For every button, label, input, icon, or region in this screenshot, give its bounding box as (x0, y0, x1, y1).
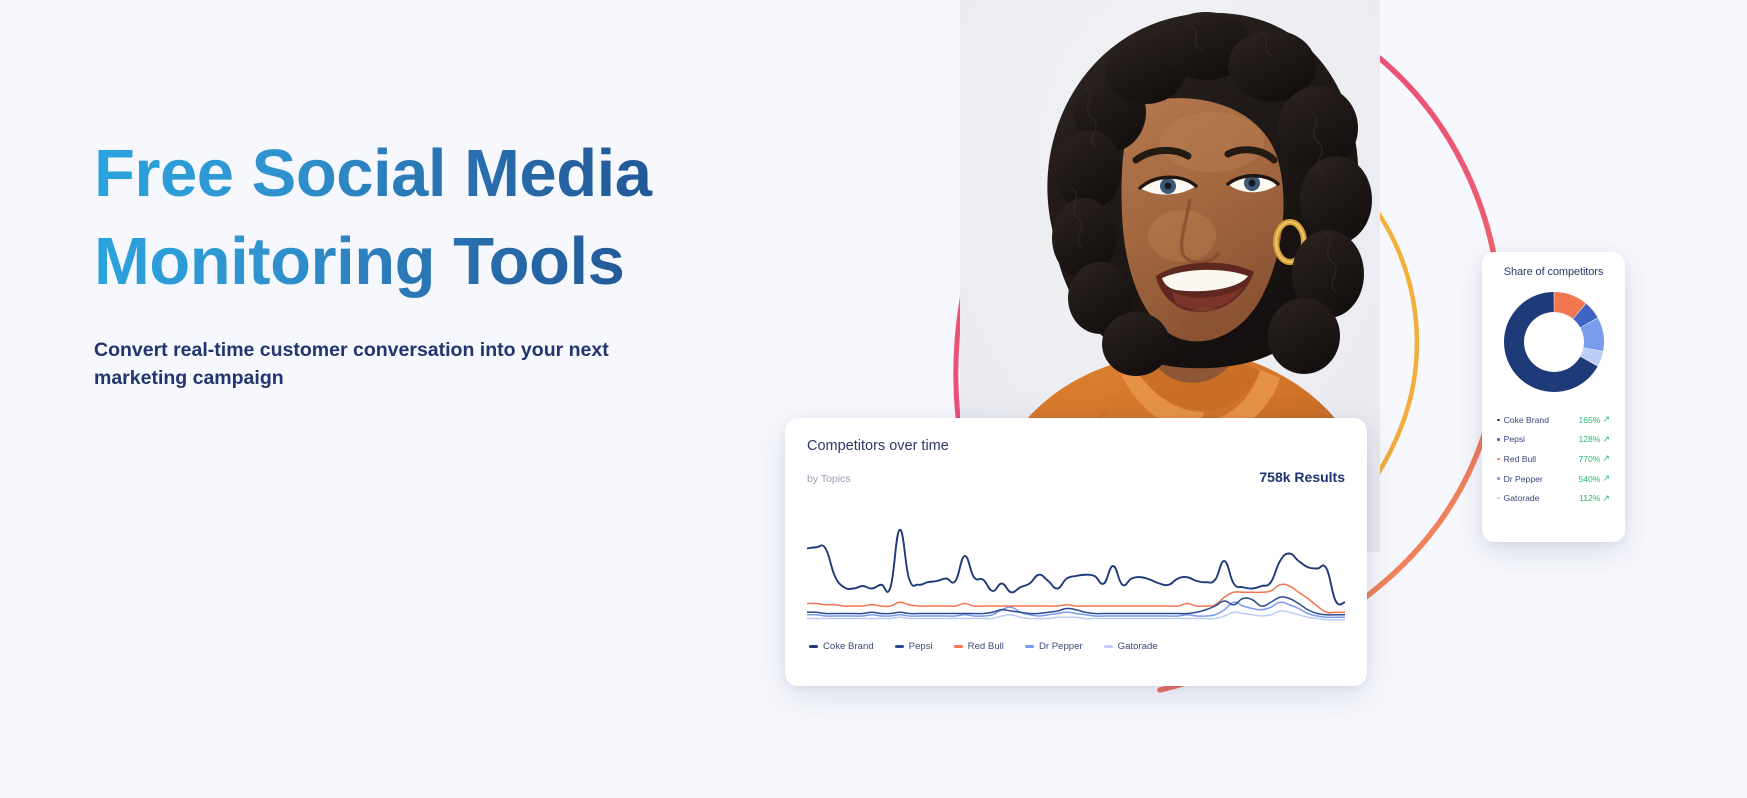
line-series-red-bull (807, 584, 1345, 613)
hero-section: Free Social Media Monitoring Tools Conve… (0, 0, 1747, 798)
chart-legend: Coke BrandPepsiRed BullDr PepperGatorade (807, 641, 1345, 652)
donut-row-label: Coke Brand (1504, 415, 1549, 425)
donut-row-left: Red Bull (1497, 454, 1536, 464)
legend-swatch-icon (954, 645, 963, 647)
donut-row-value: 128%↗ (1578, 434, 1610, 444)
trend-up-icon: ↗ (1602, 474, 1610, 483)
donut-row-percent: 112% (1579, 493, 1600, 503)
donut-chart (1500, 288, 1608, 396)
donut-row-label: Pepsi (1504, 434, 1526, 444)
line-chart-plot (807, 497, 1345, 630)
chart-by-label: by Topics (807, 473, 851, 485)
donut-row-left: Pepsi (1497, 434, 1525, 444)
legend-item-pepsi[interactable]: Pepsi (895, 641, 933, 652)
hero-copy: Free Social Media Monitoring Tools Conve… (94, 130, 734, 393)
line-series-gatorade (807, 611, 1345, 620)
line-series-coke-brand (807, 530, 1345, 605)
legend-swatch-icon (895, 645, 904, 647)
legend-swatch-icon (1025, 645, 1034, 647)
share-of-competitors-card: Share of competitors Coke Brand165%↗Peps… (1482, 252, 1625, 542)
trend-up-icon: ↗ (1602, 494, 1610, 503)
trend-up-icon: ↗ (1602, 435, 1610, 444)
donut-row-value: 165%↗ (1578, 415, 1610, 425)
donut-bullet-icon (1497, 438, 1500, 441)
donut-row-left: Coke Brand (1497, 415, 1549, 425)
donut-card-title: Share of competitors (1494, 266, 1613, 278)
donut-legend-list: Coke Brand165%↗Pepsi128%↗Red Bull770%↗Dr… (1494, 410, 1613, 508)
trend-up-icon: ↗ (1602, 415, 1610, 424)
donut-row-percent: 128% (1578, 434, 1600, 444)
donut-row-value: 540%↗ (1578, 474, 1610, 484)
legend-item-red-bull[interactable]: Red Bull (954, 641, 1004, 652)
competitors-over-time-card: Competitors over time by Topics 758k Res… (785, 418, 1367, 686)
donut-row-left: Gatorade (1497, 493, 1539, 503)
legend-item-gatorade[interactable]: Gatorade (1104, 641, 1158, 652)
hero-subtitle: Convert real-time customer conversation … (94, 336, 694, 394)
donut-row-label: Red Bull (1504, 454, 1536, 464)
donut-row-value: 770%↗ (1578, 454, 1610, 464)
donut-row[interactable]: Gatorade112%↗ (1497, 488, 1610, 508)
legend-swatch-icon (809, 645, 818, 647)
legend-label: Pepsi (909, 641, 933, 652)
donut-bullet-icon (1497, 497, 1500, 500)
legend-label: Red Bull (968, 641, 1004, 652)
chart-card-title: Competitors over time (807, 438, 1345, 454)
legend-label: Dr Pepper (1039, 641, 1083, 652)
legend-label: Gatorade (1118, 641, 1158, 652)
donut-row-label: Dr Pepper (1504, 474, 1543, 484)
donut-row-percent: 165% (1578, 415, 1600, 425)
legend-item-dr-pepper[interactable]: Dr Pepper (1025, 641, 1083, 652)
chart-results-count: 758k Results (1259, 469, 1345, 485)
donut-row-value: 112%↗ (1579, 493, 1610, 503)
donut-row[interactable]: Pepsi128%↗ (1497, 430, 1610, 450)
page-title: Free Social Media Monitoring Tools (94, 130, 734, 306)
trend-up-icon: ↗ (1602, 454, 1610, 463)
donut-row-left: Dr Pepper (1497, 474, 1543, 484)
donut-row[interactable]: Red Bull770%↗ (1497, 449, 1610, 469)
legend-item-coke-brand[interactable]: Coke Brand (809, 641, 874, 652)
donut-row-percent: 770% (1578, 454, 1600, 464)
chart-card-subrow: by Topics 758k Results (807, 469, 1345, 485)
donut-bullet-icon (1497, 458, 1500, 461)
donut-bullet-icon (1497, 419, 1500, 422)
donut-row-label: Gatorade (1504, 493, 1540, 503)
legend-label: Coke Brand (823, 641, 874, 652)
legend-swatch-icon (1104, 645, 1113, 647)
donut-row-percent: 540% (1578, 474, 1600, 484)
donut-row[interactable]: Dr Pepper540%↗ (1497, 469, 1610, 489)
donut-bullet-icon (1497, 477, 1500, 480)
donut-row[interactable]: Coke Brand165%↗ (1497, 410, 1610, 430)
